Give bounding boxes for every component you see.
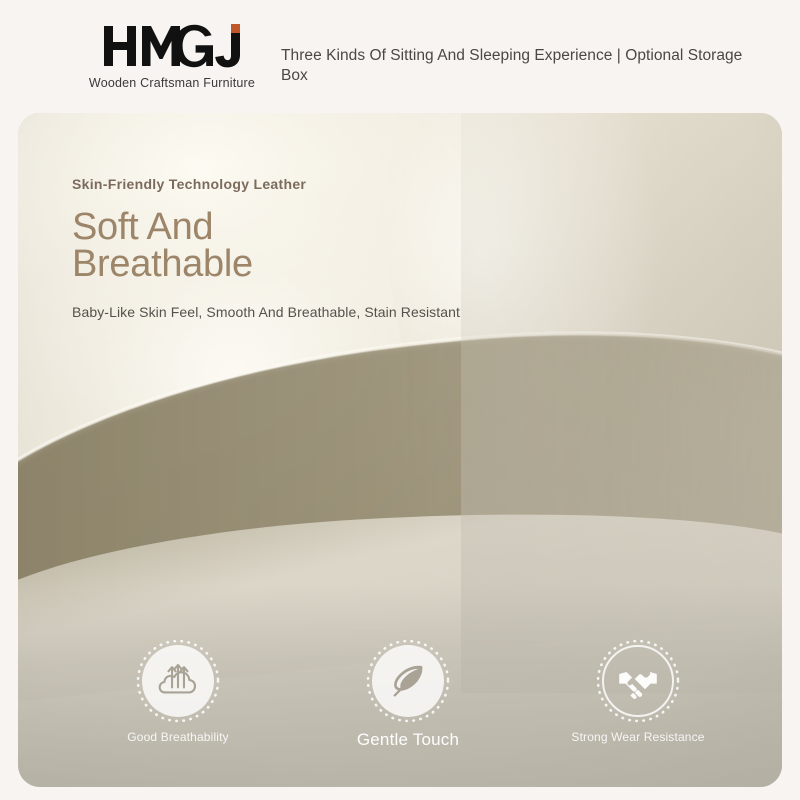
badge-disc [372, 645, 444, 717]
badge-label: Good Breathability [127, 730, 228, 744]
badge-disc [142, 645, 214, 717]
banner-header: Wooden Craftsman Furniture Three Kinds O… [0, 0, 800, 113]
brand-tagline: Wooden Craftsman Furniture [57, 76, 287, 90]
brand-lockup: Wooden Craftsman Furniture [57, 24, 287, 90]
banner-headline: Three Kinds Of Sitting And Sleeping Expe… [281, 46, 751, 86]
feature-badge-row: Good Breathability [18, 645, 782, 765]
feather-icon [386, 659, 430, 703]
logo-accent-dot [231, 24, 240, 33]
hero-subtitle: Baby-Like Skin Feel, Smooth And Breathab… [72, 304, 632, 320]
product-banner: Wooden Craftsman Furniture Three Kinds O… [0, 0, 800, 800]
badge-label: Strong Wear Resistance [571, 730, 704, 744]
badge-label: Gentle Touch [357, 730, 459, 750]
feature-badge-wear-resistance: Strong Wear Resistance [564, 645, 712, 744]
feature-badge-breathability: Good Breathability [104, 645, 252, 744]
hero-copy-block: Skin-Friendly Technology Leather Soft An… [72, 176, 632, 320]
handshake-icon [616, 659, 660, 703]
hero-eyebrow: Skin-Friendly Technology Leather [72, 176, 632, 192]
logo-wrap [104, 24, 240, 68]
hero-image-panel: Skin-Friendly Technology Leather Soft An… [18, 113, 782, 787]
cloud-arrows-up-icon [156, 659, 200, 703]
hmgj-logo-icon [104, 24, 240, 68]
feature-badge-gentle-touch: Gentle Touch [334, 645, 482, 750]
badge-disc [602, 645, 674, 717]
hero-title: Soft And Breathable [72, 209, 632, 283]
